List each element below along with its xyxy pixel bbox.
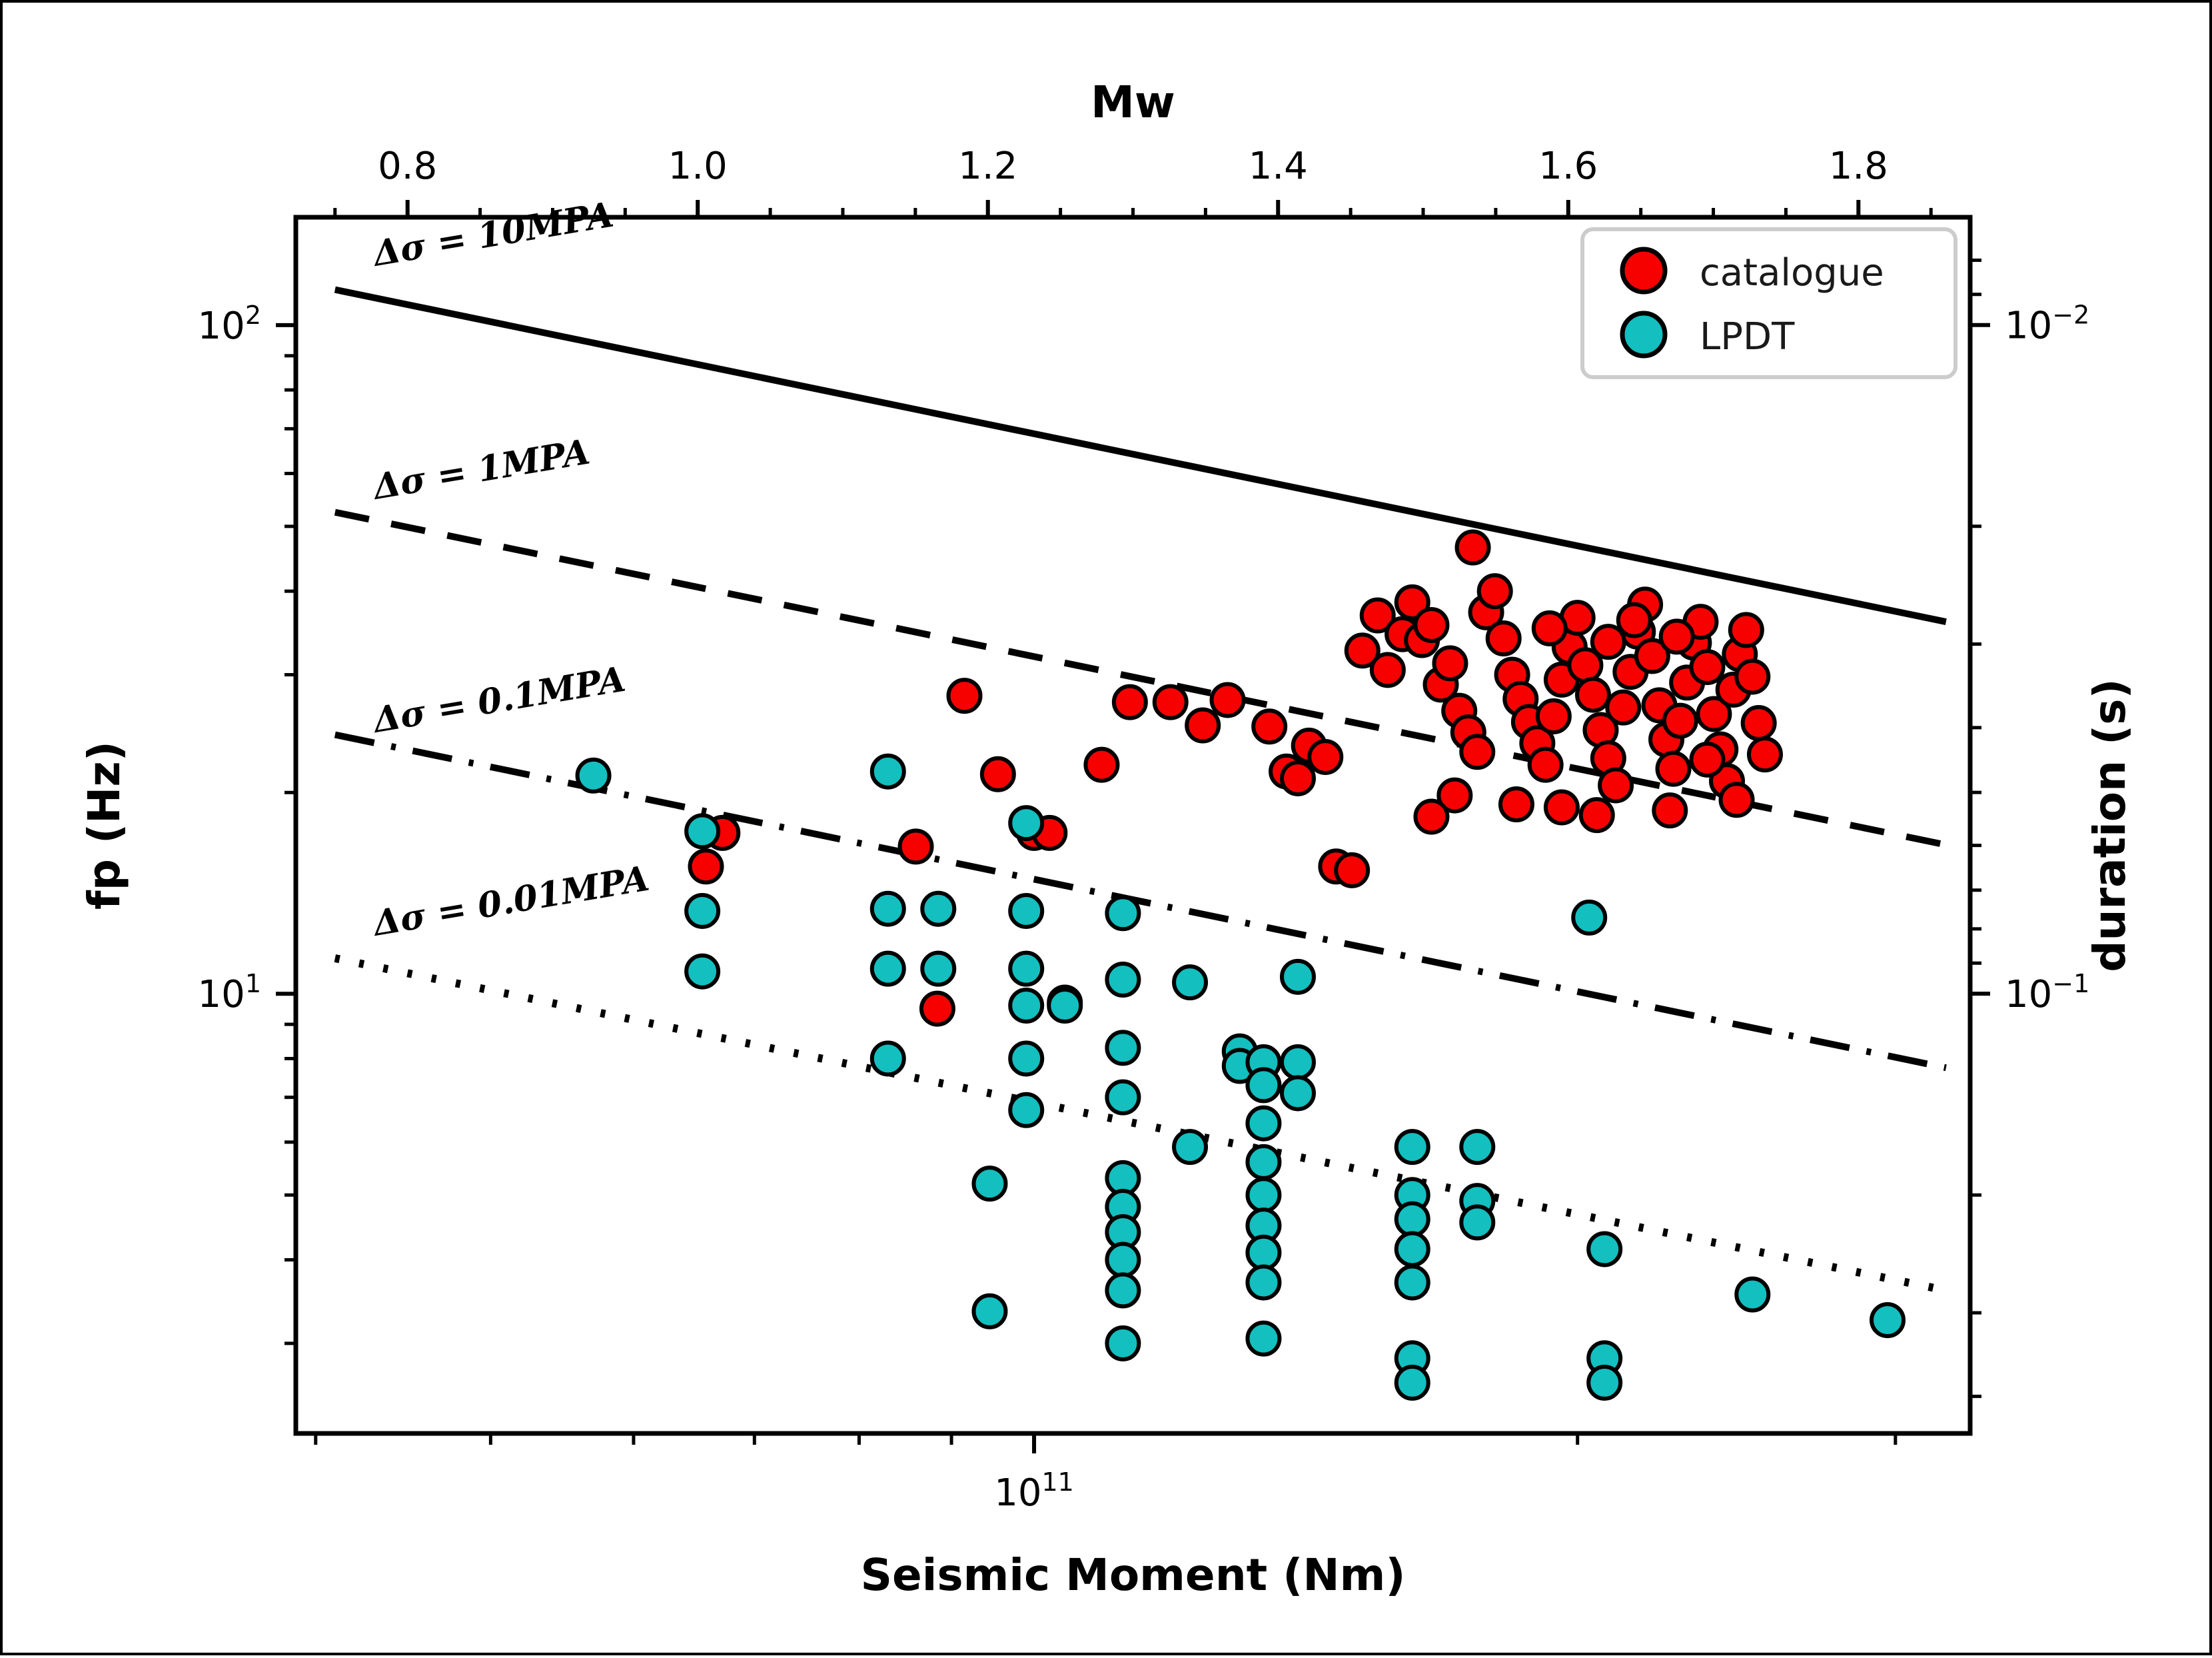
data-point [1107, 897, 1139, 929]
data-point [1691, 744, 1723, 776]
data-point [1282, 762, 1314, 794]
data-point [1461, 1206, 1493, 1238]
data-point [1010, 990, 1042, 1022]
data-point [1107, 1327, 1139, 1359]
data-point [686, 895, 718, 927]
data-point [1721, 784, 1753, 816]
data-point [1085, 749, 1117, 781]
data-point [1309, 741, 1341, 773]
data-point [1010, 953, 1042, 985]
data-point [1247, 1266, 1279, 1298]
data-point [1010, 1094, 1042, 1126]
figure-container: 0.81.01.21.41.61.8Mw1011Seismic Moment (… [0, 0, 2212, 1655]
data-point [1749, 738, 1781, 770]
data-point [1282, 1046, 1314, 1078]
data-point [1607, 692, 1639, 724]
data-point [1010, 1042, 1042, 1074]
top-axis-tick-label: 1.0 [668, 145, 728, 188]
data-point [1396, 1367, 1428, 1399]
top-axis-title: Mw [1091, 77, 1175, 128]
data-point [949, 680, 981, 712]
data-point [686, 815, 718, 847]
series-catalogue [690, 532, 1781, 1025]
data-point [1282, 1077, 1314, 1109]
data-point [1107, 1274, 1139, 1306]
data-point [1107, 1032, 1139, 1064]
data-point [872, 1042, 904, 1074]
right-axis-title: duration (s) [2084, 678, 2135, 972]
legend-label-lpdt[interactable]: LPDT [1700, 315, 1795, 359]
series-lpdt [578, 756, 1904, 1399]
data-point [1336, 854, 1368, 886]
reference-line-sd-0p01 [335, 958, 1946, 1290]
plot-canvas: 0.81.01.21.41.61.8Mw1011Seismic Moment (… [3, 3, 2212, 1658]
data-point [1530, 749, 1562, 781]
data-point [1577, 679, 1609, 711]
legend-marker-lpdt[interactable] [1622, 313, 1665, 356]
data-point [1581, 799, 1613, 831]
data-point [1618, 604, 1650, 636]
right-axis-tick-label: 10−1 [2005, 969, 2089, 1016]
data-point [982, 758, 1014, 790]
data-point [1457, 532, 1489, 564]
top-axis-tick-label: 0.8 [378, 145, 437, 188]
data-point [686, 956, 718, 988]
data-point [1654, 794, 1686, 826]
data-point [1107, 1243, 1139, 1275]
data-point [1434, 647, 1466, 679]
data-point [1010, 895, 1042, 927]
scatter-chart-svg: 0.81.01.21.41.61.8Mw1011Seismic Moment (… [3, 3, 2212, 1658]
annotation-sd-0p01: Δσ = 0.01MPA [368, 858, 652, 945]
data-point [922, 893, 954, 925]
left-axis-tick-label: 101 [198, 969, 261, 1016]
data-point [1247, 1179, 1279, 1211]
data-point [1396, 1266, 1428, 1298]
data-point [1743, 707, 1775, 739]
top-axis-tick-label: 1.4 [1249, 145, 1308, 188]
data-point [1461, 736, 1493, 768]
annotation-sd-1: Δσ = 1MPA [368, 432, 592, 508]
data-point [1396, 1233, 1428, 1265]
data-point [1247, 1323, 1279, 1355]
data-point [1538, 700, 1570, 732]
data-point [872, 953, 904, 985]
data-point [1253, 710, 1285, 742]
bottom-axis-title: Seismic Moment (Nm) [860, 1549, 1405, 1601]
data-point [1592, 626, 1624, 658]
bottom-axis-tick-label: 1011 [994, 1467, 1074, 1515]
data-point [1010, 807, 1042, 839]
data-point [1479, 575, 1511, 607]
data-point [1488, 622, 1520, 654]
data-point [1396, 1204, 1428, 1236]
data-point [1174, 966, 1206, 998]
data-point [921, 993, 953, 1025]
data-point [1573, 902, 1605, 934]
data-point [1396, 1131, 1428, 1163]
data-point [872, 893, 904, 925]
data-point [1736, 660, 1768, 692]
legend-label-catalogue[interactable]: catalogue [1700, 251, 1884, 295]
data-point [1107, 1082, 1139, 1114]
data-point [1247, 1237, 1279, 1269]
data-point [1588, 1233, 1620, 1265]
data-point [1461, 1131, 1493, 1163]
data-point [1664, 705, 1696, 737]
data-point [1415, 801, 1447, 833]
data-point [690, 850, 722, 882]
data-point [1247, 1146, 1279, 1178]
data-point [1107, 964, 1139, 996]
data-point [1736, 1279, 1768, 1311]
data-point [1187, 709, 1219, 741]
top-axis-tick-label: 1.6 [1538, 145, 1598, 188]
data-point [1174, 1131, 1206, 1163]
data-point [1372, 654, 1404, 686]
data-point [1247, 1108, 1279, 1140]
data-point [1155, 686, 1187, 718]
data-point [1282, 961, 1314, 993]
data-point [1658, 753, 1690, 785]
data-point [973, 1168, 1005, 1200]
right-axis-tick-label: 10−2 [2005, 301, 2089, 348]
data-point [922, 953, 954, 985]
data-point [1247, 1069, 1279, 1101]
data-point [1730, 614, 1762, 646]
data-point [872, 756, 904, 788]
data-point [1691, 651, 1723, 683]
data-point [1872, 1304, 1904, 1336]
top-axis-tick-label: 1.2 [958, 145, 1017, 188]
data-point [578, 760, 610, 792]
data-point [1534, 612, 1566, 644]
data-point [1546, 792, 1578, 824]
data-point [1212, 684, 1244, 716]
data-point [1588, 1367, 1620, 1399]
top-axis-tick-label: 1.8 [1829, 145, 1888, 188]
data-point [973, 1295, 1005, 1327]
left-axis-tick-label: 102 [198, 301, 261, 348]
data-point [1049, 990, 1081, 1022]
data-point [1600, 769, 1632, 801]
data-point [1415, 609, 1447, 641]
data-point [1114, 686, 1146, 718]
data-point [1661, 620, 1693, 652]
data-point [1500, 788, 1532, 820]
annotation-sd-0p1: Δσ = 0.1MPA [368, 659, 628, 742]
left-axis-title: fp (Hz) [79, 741, 130, 910]
legend-marker-catalogue[interactable] [1622, 249, 1665, 292]
data-point [900, 830, 932, 862]
